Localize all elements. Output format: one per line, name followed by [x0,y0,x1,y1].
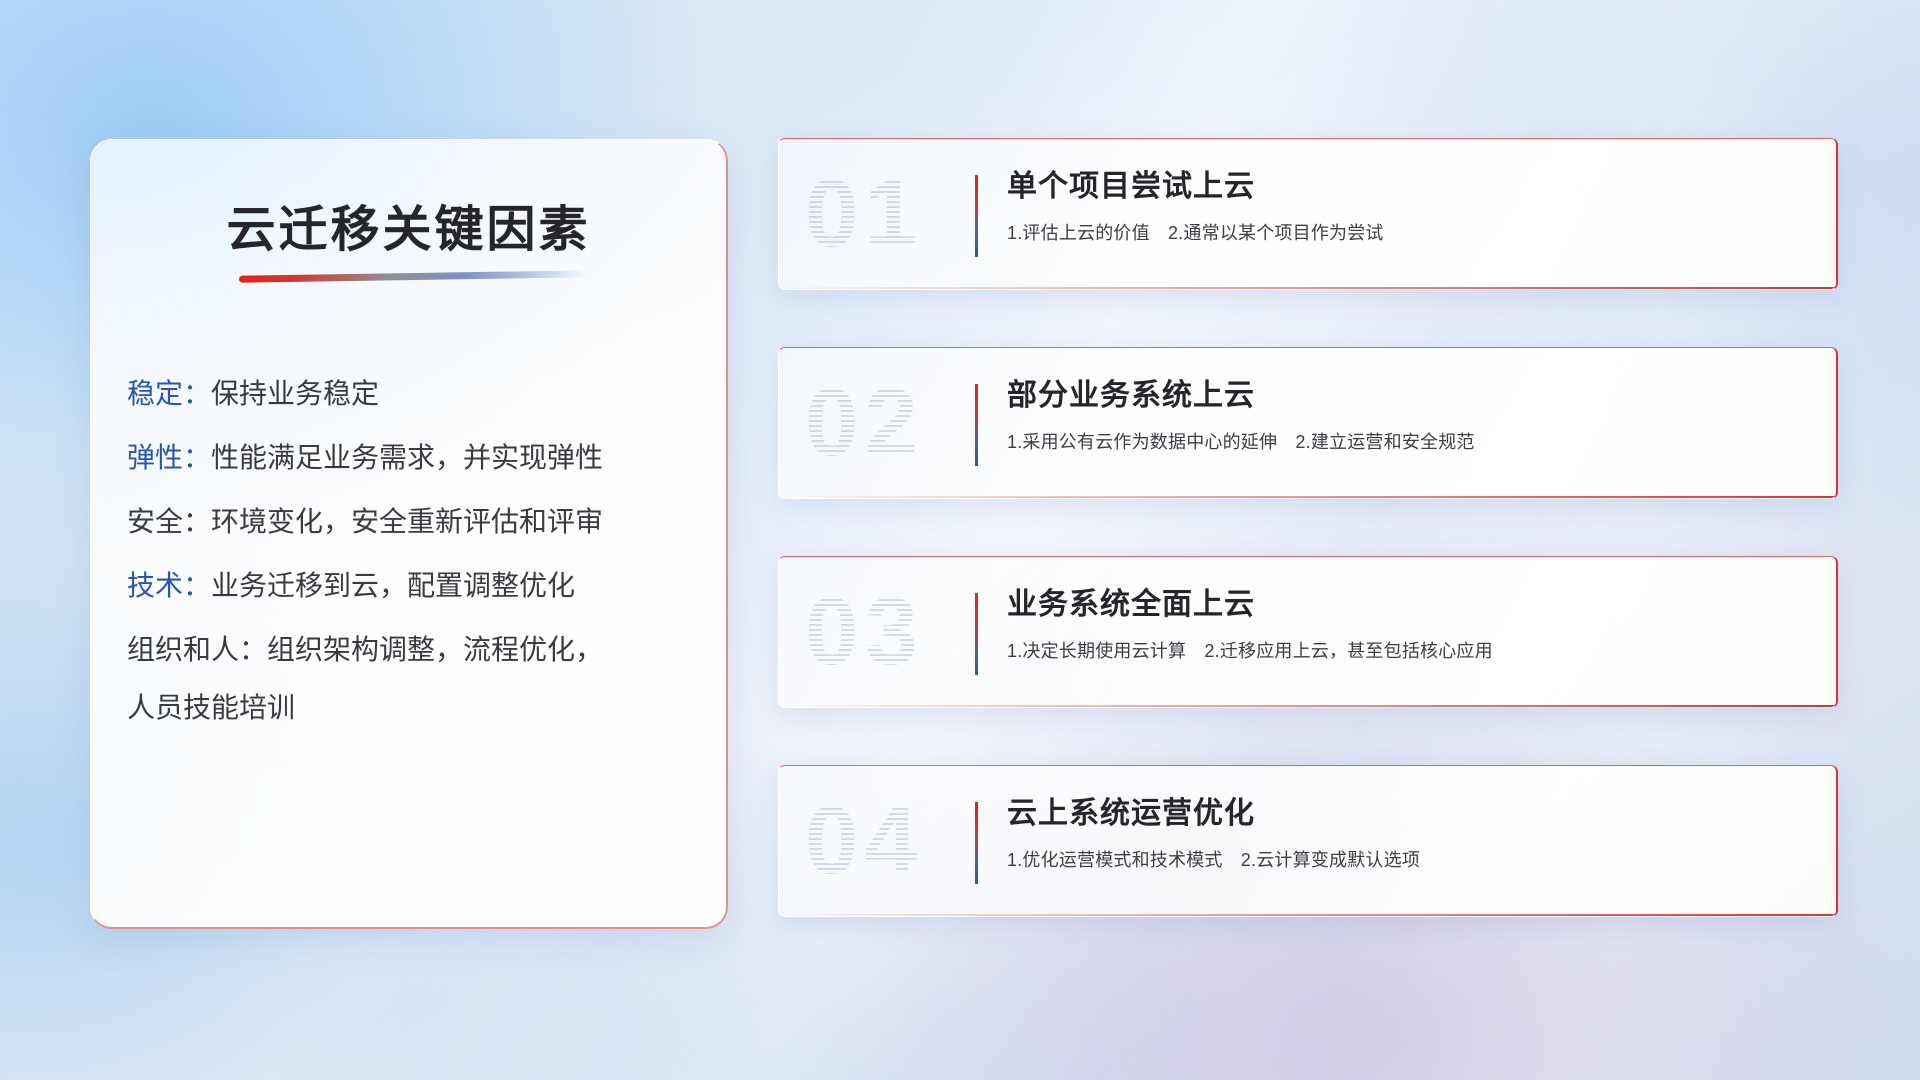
accent-bar [975,175,978,257]
stage-title: 业务系统全面上云 [1007,588,1810,623]
stage-number: 02 [805,375,924,471]
stage-description: 1.决定长期使用云计算 2.迁移应用上云，甚至包括核心应用 [1007,637,1810,663]
page-title: 云迁移关键因素 [91,190,726,261]
accent-bar [975,384,978,466]
slide-canvas: 云迁移关键因素 稳定：保持业务稳定 弹性：性能满足业务需求，并实现弹性 安全：环… [0,0,1920,1080]
accent-bar [975,593,978,675]
factor-text: 组织架构调整，流程优化， [267,634,603,665]
stage-description: 1.采用公有云作为数据中心的延伸 2.建立运营和安全规范 [1007,428,1810,454]
list-item-continuation: 人员技能培训 [91,694,726,722]
stage-card-body: 业务系统全面上云 1.决定长期使用云计算 2.迁移应用上云，甚至包括核心应用 [1007,588,1810,663]
accent-bar [975,802,978,884]
factor-label: 组织和人： [127,634,267,665]
stage-card[interactable]: 03 业务系统全面上云 1.决定长期使用云计算 2.迁移应用上云，甚至包括核心应… [778,556,1838,708]
stage-card[interactable]: 04 云上系统运营优化 1.优化运营模式和技术模式 2.云计算变成默认选项 [778,765,1838,917]
stage-card-body: 云上系统运营优化 1.优化运营模式和技术模式 2.云计算变成默认选项 [1007,797,1810,872]
factor-label: 弹性： [127,442,211,473]
stage-title: 云上系统运营优化 [1007,797,1810,832]
list-item: 稳定：保持业务稳定 [91,380,726,408]
factor-list: 稳定：保持业务稳定 弹性：性能满足业务需求，并实现弹性 安全：环境变化，安全重新… [91,380,726,758]
factor-label: 稳定： [127,378,211,409]
stage-card-list: 01 单个项目尝试上云 1.评估上云的价值 2.通常以某个项目作为尝试 02 部… [778,138,1838,974]
factor-text: 业务迁移到云，配置调整优化 [211,570,575,601]
factor-text: 环境变化，安全重新评估和评审 [211,506,603,537]
stage-number: 01 [805,166,924,262]
stage-card-body: 部分业务系统上云 1.采用公有云作为数据中心的延伸 2.建立运营和安全规范 [1007,379,1810,454]
title-underline-accent [239,270,584,282]
factor-text: 人员技能培训 [127,692,295,723]
stage-number: 03 [805,584,924,680]
factor-label: 安全： [127,506,211,537]
stage-card[interactable]: 02 部分业务系统上云 1.采用公有云作为数据中心的延伸 2.建立运营和安全规范 [778,347,1838,499]
key-factors-panel: 云迁移关键因素 稳定：保持业务稳定 弹性：性能满足业务需求，并实现弹性 安全：环… [90,139,728,929]
stage-card-body: 单个项目尝试上云 1.评估上云的价值 2.通常以某个项目作为尝试 [1007,170,1810,245]
stage-card[interactable]: 01 单个项目尝试上云 1.评估上云的价值 2.通常以某个项目作为尝试 [778,138,1838,290]
stage-number: 04 [805,793,924,889]
list-item: 组织和人：组织架构调整，流程优化， [91,636,726,664]
factor-label: 技术： [127,570,211,601]
stage-title: 单个项目尝试上云 [1007,170,1810,205]
list-item: 弹性：性能满足业务需求，并实现弹性 [91,444,726,472]
stage-description: 1.评估上云的价值 2.通常以某个项目作为尝试 [1007,219,1810,245]
factor-text: 保持业务稳定 [211,378,379,409]
factor-text: 性能满足业务需求，并实现弹性 [211,442,603,473]
stage-title: 部分业务系统上云 [1007,379,1810,414]
list-item: 安全：环境变化，安全重新评估和评审 [91,508,726,536]
stage-description: 1.优化运营模式和技术模式 2.云计算变成默认选项 [1007,846,1810,872]
list-item: 技术：业务迁移到云，配置调整优化 [91,572,726,600]
